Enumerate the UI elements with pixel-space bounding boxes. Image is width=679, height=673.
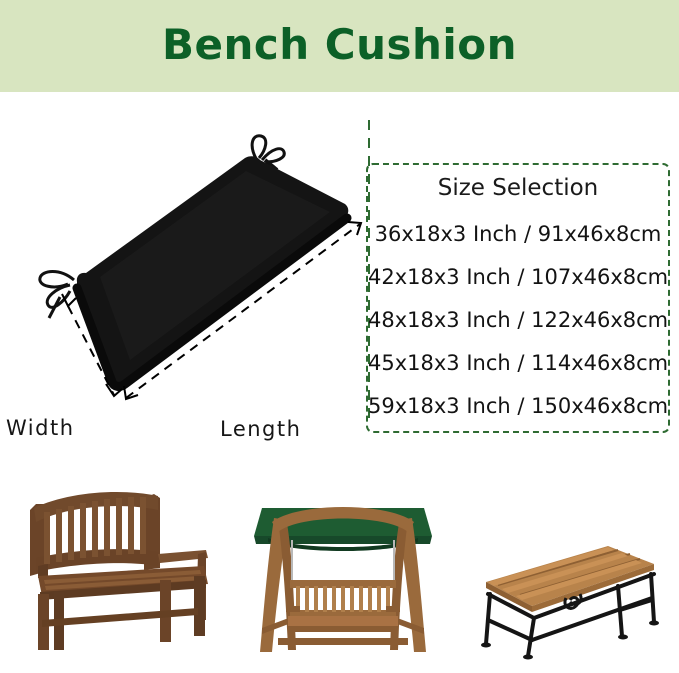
size-option[interactable]: 48x18x3 Inch / 122x46x8cm [368, 299, 668, 342]
size-selection-box: Size Selection 36x18x3 Inch / 91x46x8cm … [366, 163, 670, 433]
porch-swing-icon [248, 488, 438, 663]
size-option[interactable]: 36x18x3 Inch / 91x46x8cm [368, 213, 668, 256]
wooden-porch-swing-with-canopy [248, 488, 438, 668]
size-option[interactable]: 42x18x3 Inch / 107x46x8cm [368, 256, 668, 299]
wooden-slat-bench-with-backrest [8, 480, 228, 665]
page-title: Bench Cushion [0, 20, 679, 69]
cushion-illustration [0, 92, 380, 422]
dimension-label-width: Width [6, 416, 75, 440]
backless-wooden-bench-metal-frame [458, 520, 668, 665]
backless-bench-icon [458, 520, 668, 660]
size-option[interactable]: 59x18x3 Inch / 150x46x8cm [368, 385, 668, 428]
size-option[interactable]: 45x18x3 Inch / 114x46x8cm [368, 342, 668, 385]
product-infographic: Bench Cushion [0, 0, 679, 673]
dimension-label-length: Length [220, 417, 301, 441]
cushion-highlight [100, 171, 330, 360]
size-selection-heading: Size Selection [368, 175, 668, 201]
tie-strap-icon-left [40, 272, 74, 319]
product-photo-row [0, 470, 679, 673]
bench-cushion-diagram: Width Length [0, 92, 380, 422]
size-option-list: 36x18x3 Inch / 91x46x8cm 42x18x3 Inch / … [368, 213, 668, 428]
wooden-bench-with-back-icon [8, 480, 228, 660]
